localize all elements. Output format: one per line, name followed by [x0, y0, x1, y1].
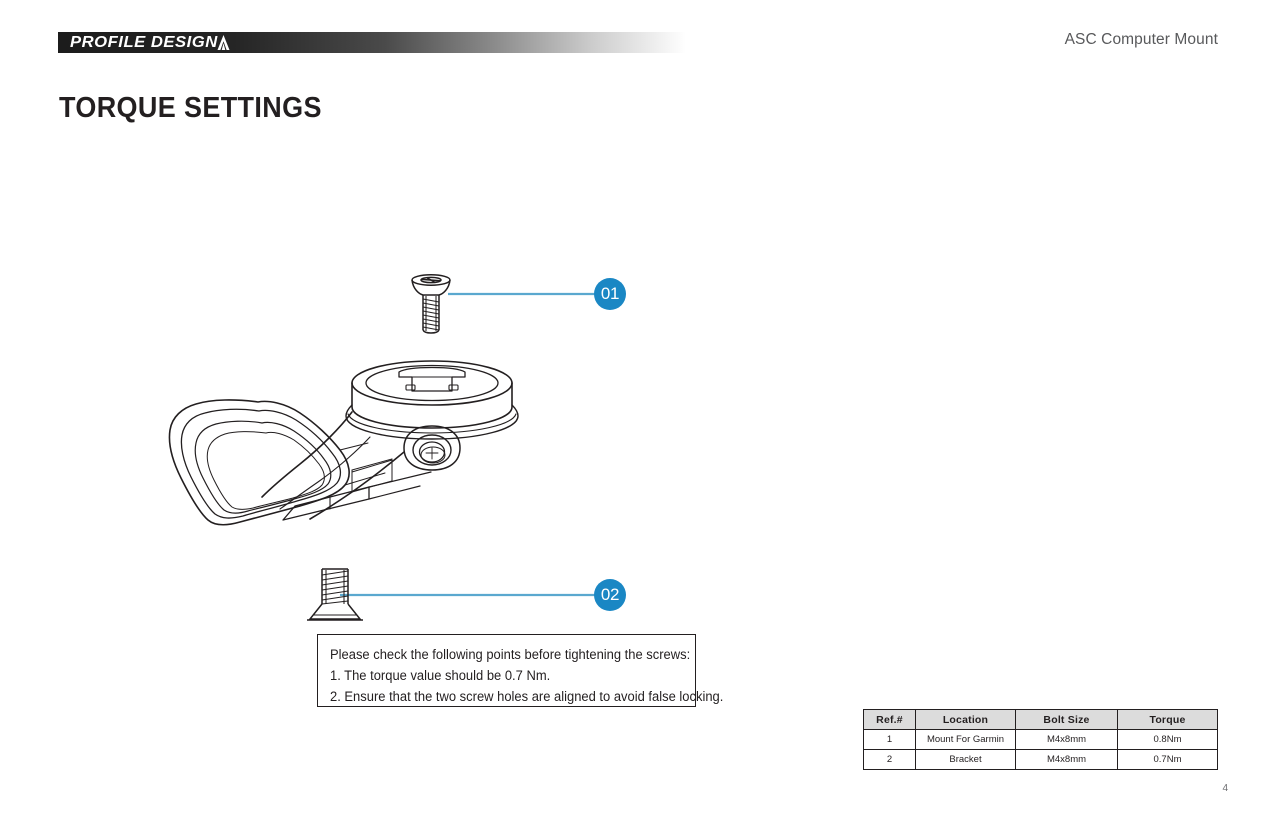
table-header-bolt-size: Bolt Size [1016, 710, 1118, 730]
flat-head-screw-bottom [307, 569, 363, 620]
flat-head-screw-top [412, 275, 450, 333]
pre-tightening-note-box: Please check the following points before… [317, 634, 696, 707]
callout-badge-02-label: 02 [601, 585, 619, 605]
table-header-location: Location [916, 710, 1016, 730]
table-header-ref: Ref.# [864, 710, 916, 730]
table-header-torque: Torque [1118, 710, 1218, 730]
cell-bolt-size: M4x8mm [1016, 730, 1118, 750]
computer-mount-assembly [169, 361, 518, 525]
callout-badge-01[interactable]: 01 [594, 278, 626, 310]
brand-logo-text: PROFILE DESIGN [70, 34, 218, 51]
cell-location: Bracket [916, 750, 1016, 770]
callout-badge-01-label: 01 [601, 284, 619, 304]
torque-settings-table: Ref.# Location Bolt Size Torque 1 Mount … [863, 709, 1218, 770]
cell-torque: 0.7Nm [1118, 750, 1218, 770]
table-row: 1 Mount For Garmin M4x8mm 0.8Nm [864, 730, 1218, 750]
cell-location: Mount For Garmin [916, 730, 1016, 750]
table-row: 2 Bracket M4x8mm 0.7Nm [864, 750, 1218, 770]
cell-ref: 1 [864, 730, 916, 750]
brand-logo: PROFILE DESIGN [70, 34, 230, 51]
callout-badge-02[interactable]: 02 [594, 579, 626, 611]
document-title: ASC Computer Mount [1065, 31, 1218, 49]
page-number: 4 [1222, 783, 1228, 794]
note-item-2: 2. Ensure that the two screw holes are a… [330, 686, 669, 707]
note-item-1: 1. The torque value should be 0.7 Nm. [330, 665, 669, 686]
page-title: TORQUE SETTINGS [59, 92, 322, 125]
triangle-a-icon [217, 35, 230, 50]
note-heading: Please check the following points before… [330, 644, 669, 665]
cell-torque: 0.8Nm [1118, 730, 1218, 750]
cell-bolt-size: M4x8mm [1016, 750, 1118, 770]
table-header-row: Ref.# Location Bolt Size Torque [864, 710, 1218, 730]
cell-ref: 2 [864, 750, 916, 770]
